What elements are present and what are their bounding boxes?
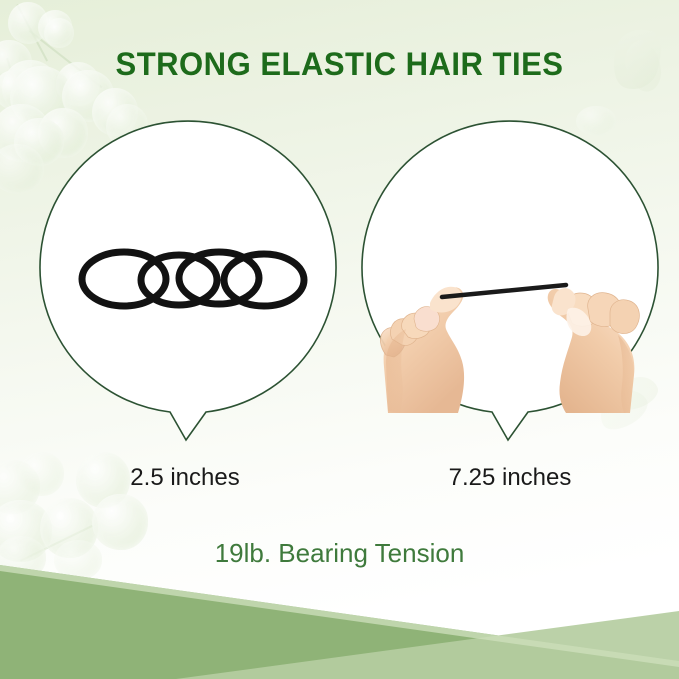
leaf-shape — [44, 18, 74, 48]
leaf-shape — [8, 2, 48, 44]
right-hand — [548, 288, 640, 413]
left-hand — [380, 287, 464, 413]
bottom-green-bands — [0, 549, 679, 679]
leaf-shape — [92, 88, 138, 136]
infographic-canvas: STRONG ELASTIC HAIR TIES — [0, 0, 679, 679]
hands-stretching-hair-tie — [372, 235, 652, 415]
hair-tie-rings — [78, 238, 308, 318]
caption-right: 7.25 inches — [370, 464, 650, 492]
caption-left: 2.5 inches — [45, 464, 325, 492]
page-title: STRONG ELASTIC HAIR TIES — [10, 46, 669, 83]
hair-tie-ring — [224, 254, 304, 306]
leaf-shape — [0, 460, 40, 514]
leaf-shape — [38, 10, 72, 44]
